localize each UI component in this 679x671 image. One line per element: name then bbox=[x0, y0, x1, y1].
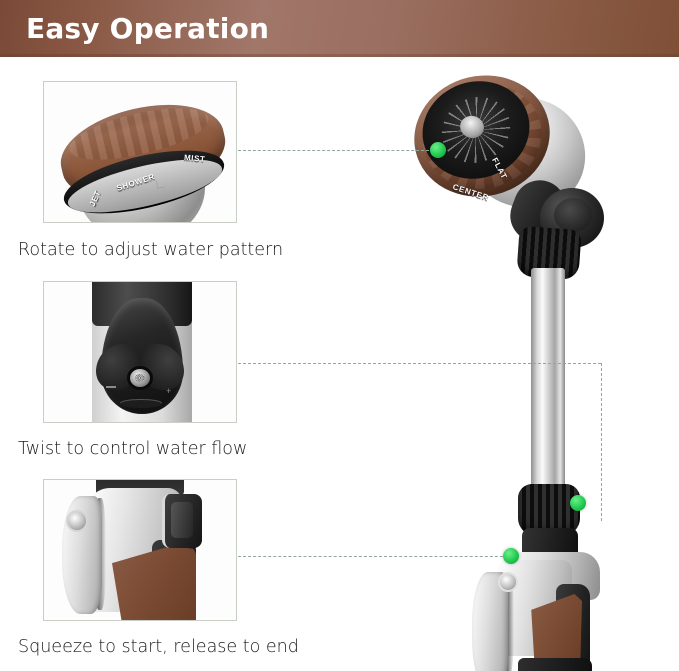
header-banner: Easy Operation bbox=[0, 0, 679, 57]
collar-pointer-icon: ∟ bbox=[153, 175, 168, 192]
extension-wand-tube bbox=[531, 268, 565, 492]
leader-line-twist-flow-horizontal bbox=[238, 363, 601, 364]
flow-knob-screw bbox=[127, 366, 153, 390]
photo-spray-head-collar: JET SHOWER MIST ∟ bbox=[44, 82, 236, 222]
photo-flow-control-knob: + bbox=[44, 282, 236, 422]
photo-handle-trigger bbox=[44, 480, 236, 620]
collar-label-mist: MIST bbox=[184, 153, 206, 164]
page-title: Easy Operation bbox=[26, 12, 269, 45]
leader-line-squeeze-trigger bbox=[238, 556, 518, 557]
handle-base bbox=[518, 658, 592, 671]
leader-line-twist-flow-vertical bbox=[601, 363, 602, 521]
callout-box-twist-flow: + bbox=[43, 281, 237, 423]
infographic-page: Easy Operation JET SHOWER MIST ∟ Rotate … bbox=[0, 0, 679, 671]
hotspot-dot-spray-head bbox=[430, 142, 446, 158]
leader-line-rotate-pattern bbox=[238, 150, 434, 151]
trigger-lock-clip-detail bbox=[162, 494, 202, 548]
flow-knob-slot bbox=[120, 400, 162, 408]
callout-box-rotate-pattern: JET SHOWER MIST ∟ bbox=[43, 81, 237, 223]
caption-twist-flow: Twist to control water flow bbox=[18, 439, 247, 459]
flow-plus-icon: + bbox=[166, 386, 171, 396]
hotspot-dot-trigger bbox=[503, 548, 519, 564]
caption-squeeze-trigger: Squeeze to start, release to end bbox=[18, 637, 299, 657]
trigger-pivot-detail bbox=[66, 510, 88, 532]
handle-trigger-pivot bbox=[498, 572, 518, 592]
callout-box-squeeze-trigger bbox=[43, 479, 237, 621]
hotspot-dot-flow-control bbox=[570, 495, 586, 511]
flow-minus-icon bbox=[106, 386, 116, 388]
caption-rotate-pattern: Rotate to adjust water pattern bbox=[18, 240, 283, 260]
